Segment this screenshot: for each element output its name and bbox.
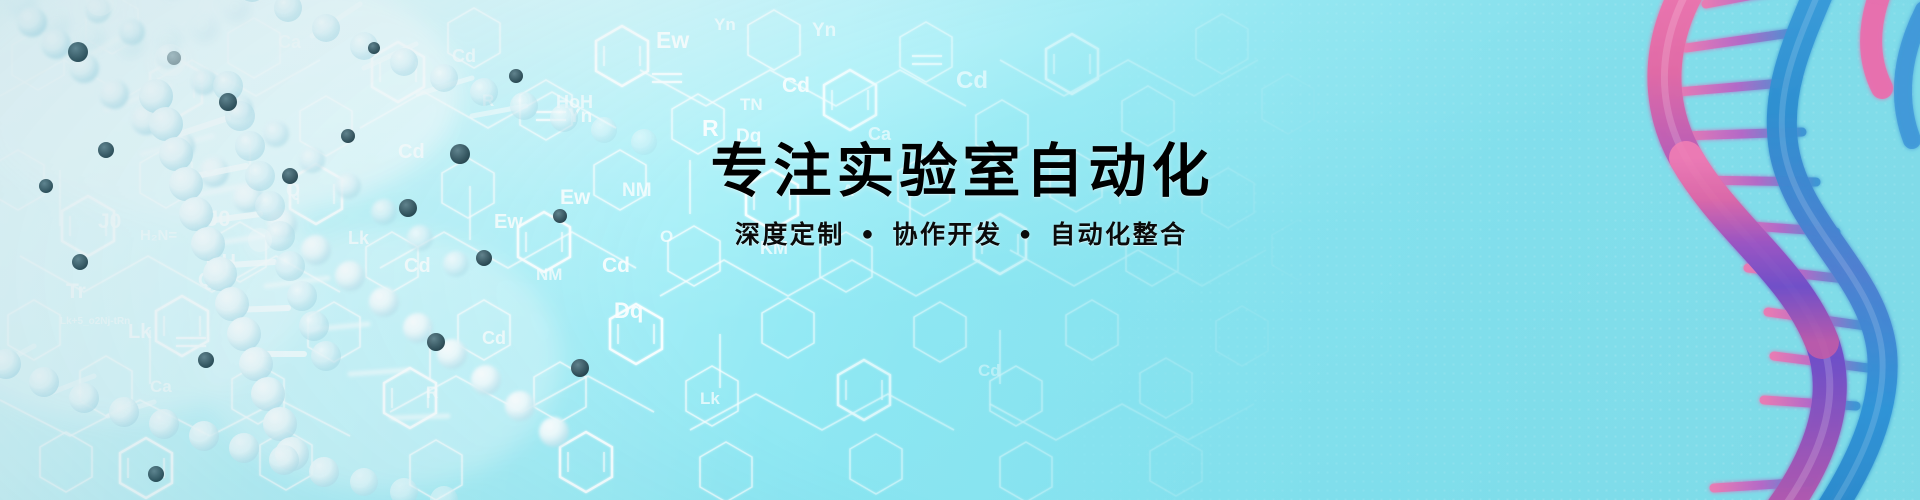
hero-banner: Cd Yn Ew R Cd Cd Yn Ew NM HoH J0 J0 H₂N=… — [0, 0, 1920, 500]
background-vignette — [0, 0, 1920, 500]
